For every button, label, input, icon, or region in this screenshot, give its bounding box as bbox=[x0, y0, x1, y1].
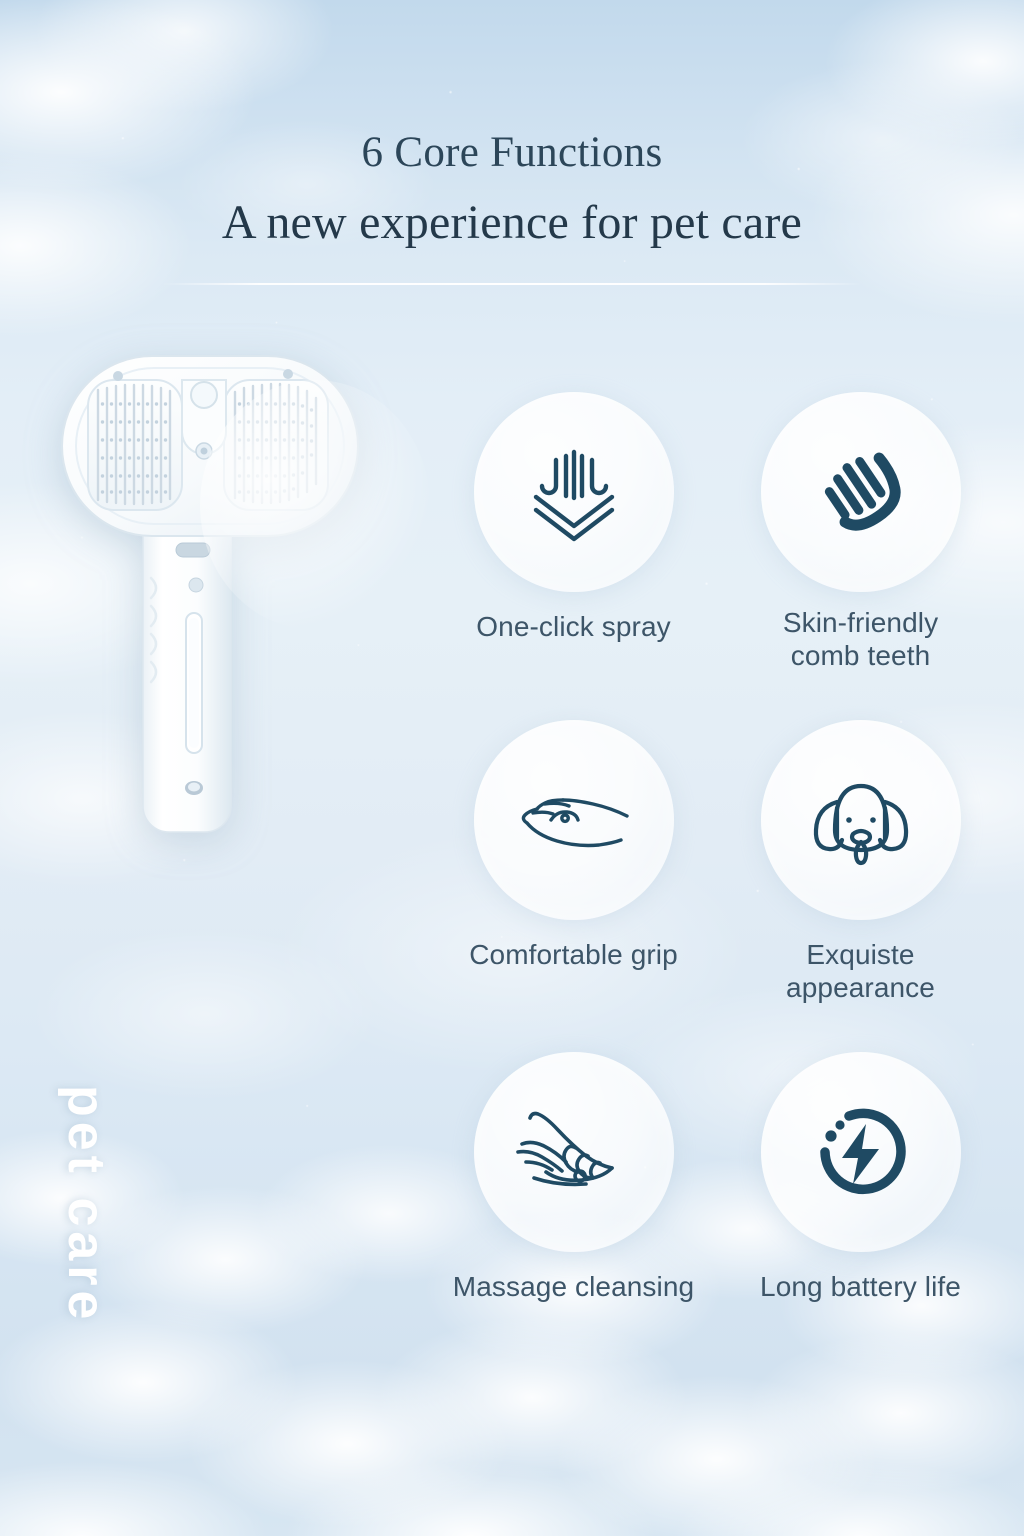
battery-charge-icon bbox=[809, 1100, 913, 1204]
product-handle bbox=[143, 518, 231, 832]
feature-label-line-2: comb teeth bbox=[791, 640, 931, 671]
feature-grid: One-click spray bbox=[430, 392, 1004, 1303]
open-palm-icon bbox=[515, 768, 633, 872]
feature-label: One-click spray bbox=[476, 610, 670, 643]
comb-teeth-icon bbox=[809, 440, 913, 544]
feature-comfortable-grip[interactable]: Comfortable grip bbox=[430, 720, 717, 1004]
feature-label: Comfortable grip bbox=[469, 938, 678, 971]
feature-label-line-1: Skin-friendly bbox=[783, 607, 938, 638]
feature-icon-bubble bbox=[761, 720, 961, 920]
feature-icon-bubble bbox=[474, 720, 674, 920]
header-divider bbox=[162, 283, 862, 285]
feature-label: Long battery life bbox=[760, 1270, 961, 1303]
brand-vertical-label: pet care bbox=[60, 1085, 112, 1324]
feature-massage-cleansing[interactable]: Massage cleansing bbox=[430, 1052, 717, 1303]
feature-row-3: Massage cleansing bbox=[430, 1052, 1004, 1303]
page-title-line-2: A new experience for pet care bbox=[0, 199, 1024, 247]
product-feature-page: 6 Core Functions A new experience for pe… bbox=[0, 0, 1024, 1536]
page-header: 6 Core Functions A new experience for pe… bbox=[0, 0, 1024, 285]
feature-label: Exquiste appearance bbox=[731, 938, 991, 1004]
massage-hand-icon bbox=[514, 1100, 634, 1204]
feature-icon-bubble bbox=[474, 1052, 674, 1252]
feature-label: Massage cleansing bbox=[453, 1270, 694, 1303]
feature-row-1: One-click spray bbox=[430, 392, 1004, 672]
feature-one-click-spray[interactable]: One-click spray bbox=[430, 392, 717, 672]
feature-exquiste-appearance[interactable]: Exquiste appearance bbox=[717, 720, 1004, 1004]
feature-row-2: Comfortable grip bbox=[430, 720, 1004, 1004]
feature-icon-bubble bbox=[761, 1052, 961, 1252]
feature-icon-bubble bbox=[474, 392, 674, 592]
feature-label: Skin-friendly comb teeth bbox=[783, 606, 938, 672]
dog-face-icon bbox=[807, 768, 915, 872]
feature-icon-bubble bbox=[761, 392, 961, 592]
spray-down-icon bbox=[522, 440, 626, 544]
feature-long-battery-life[interactable]: Long battery life bbox=[717, 1052, 1004, 1303]
page-title-line-1: 6 Core Functions bbox=[0, 131, 1024, 174]
feature-skin-friendly-comb-teeth[interactable]: Skin-friendly comb teeth bbox=[717, 392, 1004, 672]
product-brush-head bbox=[62, 356, 358, 536]
product-image bbox=[48, 338, 378, 848]
